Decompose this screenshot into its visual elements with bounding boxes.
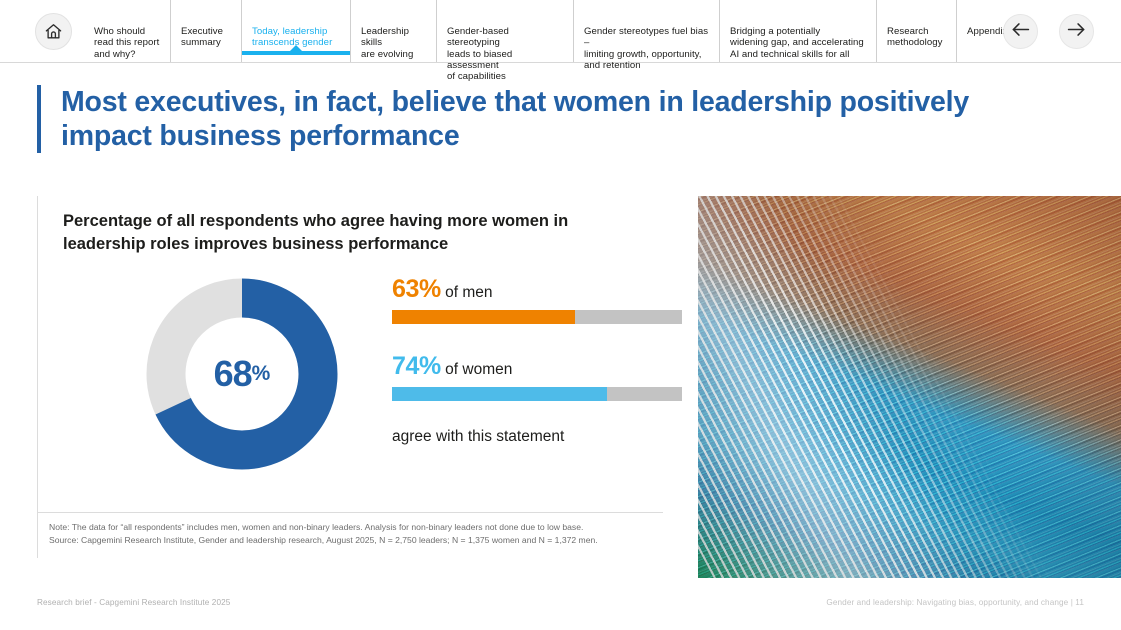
nav-item-label: Gender stereotypes fuel bias – limiting … [584, 26, 708, 71]
nav-item-leadership-skills-evolving[interactable]: Leadership skills are evolving [350, 0, 436, 62]
bar-track-women [392, 387, 682, 401]
slide-page: Who should read this report and why? Exe… [0, 0, 1121, 630]
nav-item-label: Executive summary [181, 26, 223, 48]
bar-fill-men [392, 310, 575, 324]
bar-caption-women: 74% of women [392, 351, 692, 385]
bar-value-men: 63% [392, 275, 441, 303]
bar-value-women: 74% [392, 352, 441, 380]
nav-item-gender-based-stereotyping[interactable]: Gender-based stereotyping leads to biase… [436, 0, 573, 62]
nav-arrow-group [1003, 14, 1094, 49]
note-line-2: Source: Capgemini Research Institute, Ge… [49, 534, 664, 547]
bar-label-women: of women [441, 361, 513, 378]
chart-panel: Percentage of all respondents who agree … [37, 196, 662, 558]
bar-label-men: of men [441, 284, 493, 301]
loom-threads-photo [698, 196, 1121, 578]
active-tab-notch-icon [290, 45, 302, 51]
next-page-button[interactable] [1059, 14, 1094, 49]
bar-fill-women [392, 387, 607, 401]
nav-item-executive-summary[interactable]: Executive summary [170, 0, 241, 62]
chart-visualization: 68% 63% of men 74% of women [63, 274, 663, 489]
bar-chart-group: 63% of men 74% of women agree with this … [392, 274, 692, 446]
nav-item-label: Gender-based stereotyping leads to biase… [447, 26, 512, 82]
page-title: Most executives, in fact, believe that w… [61, 85, 1037, 153]
home-icon [44, 22, 63, 41]
bar-caption-men: 63% of men [392, 274, 692, 308]
footer-left-text: Research brief - Capgemini Research Inst… [37, 598, 230, 607]
top-navigation-bar: Who should read this report and why? Exe… [0, 0, 1121, 63]
arrow-left-icon [1011, 22, 1030, 42]
agree-statement-text: agree with this statement [392, 428, 692, 446]
donut-value: 68 [214, 353, 252, 395]
active-tab-underline [242, 51, 350, 55]
nav-item-label: Who should read this report and why? [94, 26, 159, 59]
donut-percent-sign: % [252, 362, 271, 386]
bar-group-women: 74% of women [392, 351, 692, 401]
page-title-container: Most executives, in fact, believe that w… [37, 85, 1037, 153]
bar-track-men [392, 310, 682, 324]
nav-item-research-methodology[interactable]: Research methodology [876, 0, 956, 62]
nav-item-who-should-read[interactable]: Who should read this report and why? [84, 0, 170, 62]
nav-item-label: Bridging a potentially widening gap, and… [730, 26, 864, 59]
chart-heading: Percentage of all respondents who agree … [63, 210, 633, 256]
note-line-1: Note: The data for “all respondents” inc… [49, 521, 664, 534]
nav-item-today-leadership-transcends-gender[interactable]: Today, leadership transcends gender [241, 0, 350, 62]
home-button[interactable] [35, 13, 72, 50]
arrow-right-icon [1067, 22, 1086, 42]
nav-item-list: Who should read this report and why? Exe… [84, 0, 1022, 62]
nav-item-gender-stereotypes-fuel-bias[interactable]: Gender stereotypes fuel bias – limiting … [573, 0, 719, 62]
photo-vignette [698, 196, 1121, 578]
chart-note: Note: The data for “all respondents” inc… [49, 521, 664, 546]
nav-item-label: Research methodology [887, 26, 943, 48]
previous-page-button[interactable] [1003, 14, 1038, 49]
nav-item-bridging-widening-gap[interactable]: Bridging a potentially widening gap, and… [719, 0, 876, 62]
bar-group-men: 63% of men [392, 274, 692, 324]
donut-center-label: 68% [146, 278, 338, 470]
donut-chart: 68% [146, 278, 338, 470]
nav-item-label: Leadership skills are evolving [361, 26, 413, 59]
footer-right-text: Gender and leadership: Navigating bias, … [826, 598, 1084, 607]
note-separator [38, 512, 663, 513]
nav-item-label: Appendix [967, 26, 1007, 37]
